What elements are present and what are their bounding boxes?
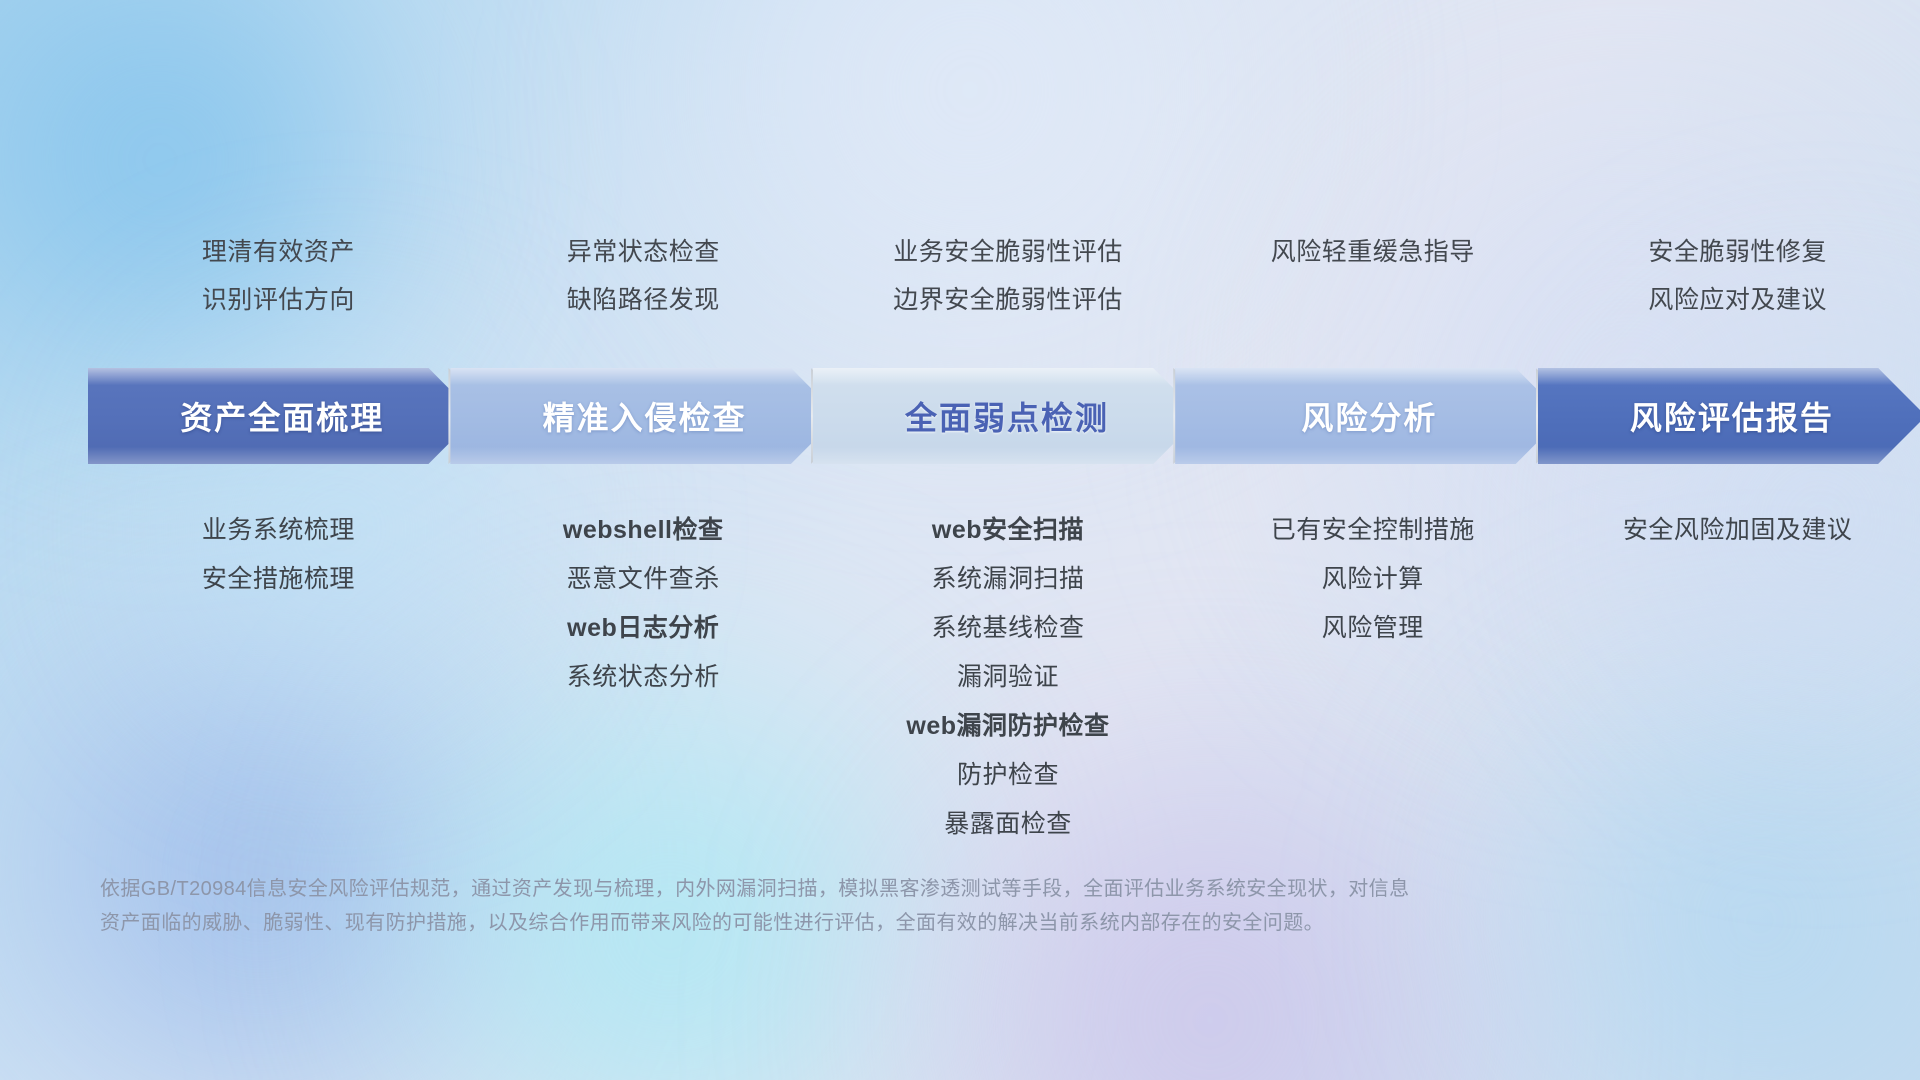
bottom-item: web漏洞防护检查 [826, 702, 1191, 751]
chevron-stage-risk-analysis[interactable]: 风险分析 [1175, 368, 1563, 464]
bottom-item: 风险管理 [1190, 604, 1555, 653]
chevron-label: 精准入侵检查 [543, 393, 747, 439]
bottom-item: 安全风险加固及建议 [1555, 506, 1920, 555]
top-item: 业务安全脆弱性评估 [826, 228, 1191, 276]
diagram-canvas: 理清有效资产 识别评估方向 异常状态检查 缺陷路径发现 业务安全脆弱性评估 边界… [0, 0, 1920, 1080]
top-col-risk-report: 安全脆弱性修复 风险应对及建议 [1555, 228, 1920, 324]
bottom-item: 暴露面检查 [826, 800, 1191, 849]
bottom-item: 防护检查 [826, 751, 1191, 800]
bottom-item: 安全措施梳理 [96, 555, 461, 604]
bottom-item: 风险计算 [1190, 555, 1555, 604]
footer-line: 资产面临的威胁、脆弱性、现有防护措施，以及综合作用而带来风险的可能性进行评估，全… [100, 906, 1860, 940]
chevron-label: 全面弱点检测 [905, 393, 1109, 439]
top-item: 安全脆弱性修复 [1555, 228, 1920, 276]
bottom-item: 系统状态分析 [461, 653, 826, 702]
chevron-label: 风险分析 [1301, 393, 1437, 439]
top-col-weakness-detection: 业务安全脆弱性评估 边界安全脆弱性评估 [826, 228, 1191, 324]
top-item: 理清有效资产 [96, 228, 461, 276]
top-item: 识别评估方向 [96, 276, 461, 324]
bottom-item: 漏洞验证 [826, 653, 1191, 702]
footer-note: 依据GB/T20984信息安全风险评估规范，通过资产发现与梳理，内外网漏洞扫描，… [100, 872, 1860, 940]
chevron-stage-weakness-detection[interactable]: 全面弱点检测 [813, 368, 1201, 464]
bottom-item: web安全扫描 [826, 506, 1191, 555]
bottom-item: 恶意文件查杀 [461, 555, 826, 604]
chevron-stage-intrusion-check[interactable]: 精准入侵检查 [450, 368, 838, 464]
footer-line: 依据GB/T20984信息安全风险评估规范，通过资产发现与梳理，内外网漏洞扫描，… [100, 872, 1860, 906]
bottom-descriptions-row: 业务系统梳理 安全措施梳理 webshell检查 恶意文件查杀 web日志分析 … [96, 506, 1920, 849]
bottom-item: 系统漏洞扫描 [826, 555, 1191, 604]
top-item: 边界安全脆弱性评估 [826, 276, 1191, 324]
top-item: 风险应对及建议 [1555, 276, 1920, 324]
top-descriptions-row: 理清有效资产 识别评估方向 异常状态检查 缺陷路径发现 业务安全脆弱性评估 边界… [96, 228, 1920, 324]
top-item: 异常状态检查 [461, 228, 826, 276]
chevron-stage-risk-report[interactable]: 风险评估报告 [1538, 368, 1920, 464]
bottom-item: 系统基线检查 [826, 604, 1191, 653]
chevron-label: 风险评估报告 [1630, 393, 1834, 439]
chevron-label: 资产全面梳理 [180, 393, 384, 439]
bottom-col-asset-inventory: 业务系统梳理 安全措施梳理 [96, 506, 461, 604]
top-col-asset-inventory: 理清有效资产 识别评估方向 [96, 228, 461, 324]
bottom-item: 已有安全控制措施 [1190, 506, 1555, 555]
top-col-intrusion-check: 异常状态检查 缺陷路径发现 [461, 228, 826, 324]
top-col-risk-analysis: 风险轻重缓急指导 [1190, 228, 1555, 324]
bottom-col-weakness-detection: web安全扫描 系统漏洞扫描 系统基线检查 漏洞验证 web漏洞防护检查 防护检… [826, 506, 1191, 849]
top-item: 缺陷路径发现 [461, 276, 826, 324]
process-chevron-band: 资产全面梳理 精准入侵检查 全面弱点检测 风险分析 [88, 368, 1920, 464]
bottom-col-risk-report: 安全风险加固及建议 [1555, 506, 1920, 555]
bottom-col-risk-analysis: 已有安全控制措施 风险计算 风险管理 [1190, 506, 1555, 653]
bottom-item: 业务系统梳理 [96, 506, 461, 555]
top-item: 风险轻重缓急指导 [1190, 228, 1555, 276]
bottom-col-intrusion-check: webshell检查 恶意文件查杀 web日志分析 系统状态分析 [461, 506, 826, 702]
bottom-item: web日志分析 [461, 604, 826, 653]
chevron-stage-asset-inventory[interactable]: 资产全面梳理 [88, 368, 476, 464]
bottom-item: webshell检查 [461, 506, 826, 555]
